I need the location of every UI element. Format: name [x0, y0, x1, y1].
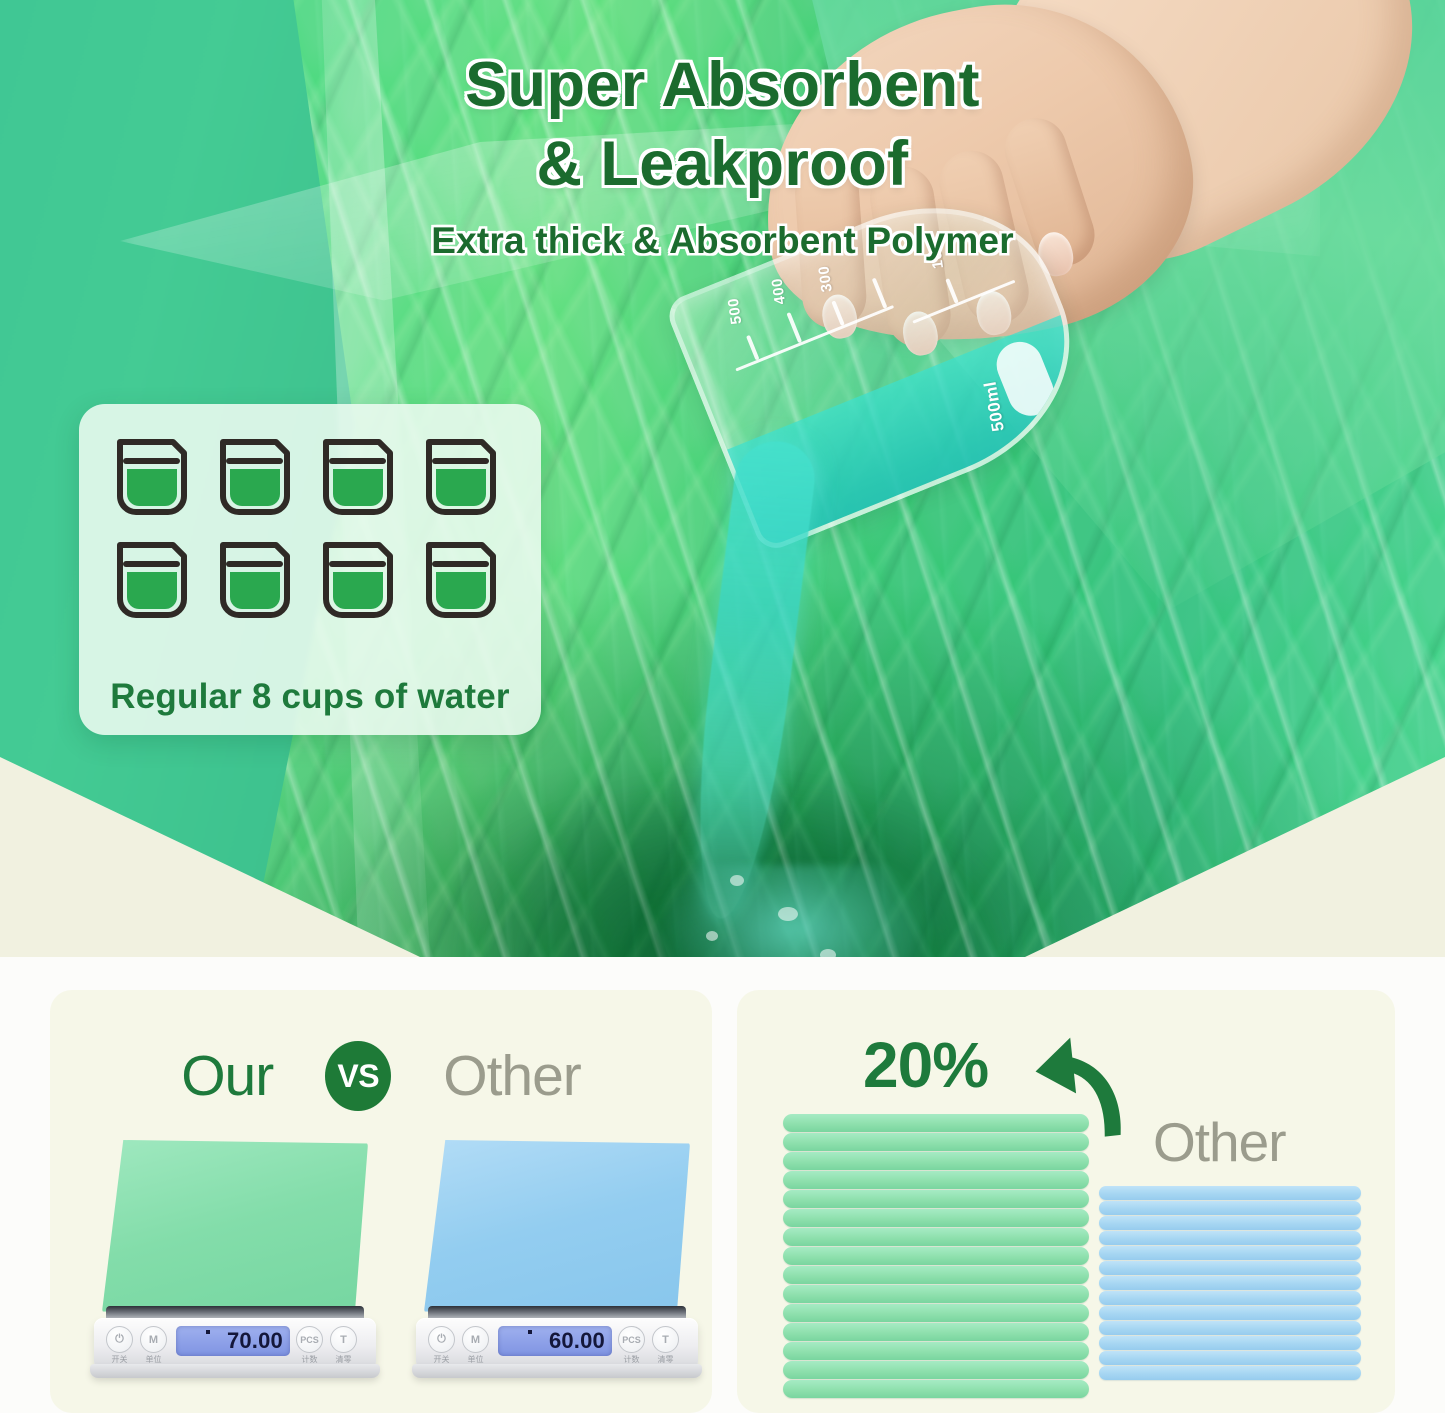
lcd-indicator-dot	[206, 1330, 210, 1334]
pad-layer	[783, 1361, 1089, 1379]
other-thickness-label: Other	[1153, 1110, 1286, 1174]
graduation-tick	[831, 300, 844, 326]
thickness-comparison-card: 20% Other	[737, 990, 1395, 1413]
our-label: Our	[181, 1043, 273, 1109]
beaker-tick-label: 500	[725, 297, 746, 326]
water-bubbles	[610, 845, 1010, 957]
bubble	[820, 949, 836, 957]
power-button[interactable]: ⏻	[428, 1326, 455, 1353]
lcd-indicator-dot	[528, 1330, 532, 1334]
bubble	[730, 875, 744, 886]
pad-layer	[1099, 1291, 1361, 1305]
cup-icon	[319, 539, 410, 632]
pad-layer	[1099, 1321, 1361, 1335]
vs-badge: VS	[325, 1041, 391, 1111]
pad-layer	[1099, 1336, 1361, 1350]
green-pad-stack	[783, 1114, 1089, 1399]
pad-layer	[1099, 1231, 1361, 1245]
cup-icon	[113, 436, 204, 529]
scale-other: 60.00 ⏻ M PCS T 开关 单位 计数 清零	[410, 1140, 700, 1390]
graduation-tick	[872, 278, 888, 309]
cup-icon	[422, 539, 513, 632]
pad-layer	[783, 1133, 1089, 1151]
weight-comparison-card: Our VS Other 70.00 ⏻ M PCS T	[50, 990, 712, 1413]
pad-layer	[783, 1285, 1089, 1303]
blue-pad-stack	[1099, 1186, 1361, 1381]
pad-layer	[783, 1171, 1089, 1189]
pad-layer	[1099, 1186, 1361, 1200]
count-button-label: 计数	[618, 1354, 645, 1365]
other-label: Other	[443, 1043, 581, 1109]
pad-layer	[1099, 1261, 1361, 1275]
cup-icon-grid	[113, 436, 513, 632]
power-button-label: 开关	[428, 1354, 455, 1365]
water-capacity-card: Regular 8 cups of water	[79, 404, 541, 735]
scale-our: 70.00 ⏻ M PCS T 开关 单位 计数 清零	[88, 1140, 378, 1390]
count-button[interactable]: PCS	[296, 1326, 323, 1353]
pad-layer	[1099, 1246, 1361, 1260]
pad-layer	[783, 1247, 1089, 1265]
cup-icon	[216, 539, 307, 632]
graduation-tick	[786, 312, 802, 343]
bottom-section: Our VS Other 70.00 ⏻ M PCS T	[0, 957, 1445, 1413]
power-button-label: 开关	[106, 1354, 133, 1365]
pad-layer	[1099, 1216, 1361, 1230]
scale-display-other: 60.00	[498, 1326, 612, 1356]
pad-our	[102, 1140, 368, 1315]
scale-base	[412, 1364, 702, 1378]
unit-button-label: 单位	[140, 1354, 167, 1365]
unit-button-label: 单位	[462, 1354, 489, 1365]
cup-icon	[319, 436, 410, 529]
tare-button[interactable]: T	[330, 1326, 357, 1353]
pad-other	[424, 1140, 690, 1315]
scale-display-our: 70.00	[176, 1326, 290, 1356]
pad-layer	[783, 1152, 1089, 1170]
cups-card-label: Regular 8 cups of water	[79, 677, 541, 717]
cup-icon	[113, 539, 204, 632]
pad-layer	[783, 1228, 1089, 1246]
beaker-tick-label: 400	[769, 277, 790, 306]
bubble	[778, 907, 798, 921]
product-marketing-image: 500 400 300 100 500ml Super Absorbent	[0, 0, 1445, 1413]
pad-layer	[1099, 1351, 1361, 1365]
pad-layer	[1099, 1366, 1361, 1380]
count-button[interactable]: PCS	[618, 1326, 645, 1353]
tare-button-label: 清零	[330, 1354, 357, 1365]
graduation-line	[735, 305, 894, 371]
scales-row: 70.00 ⏻ M PCS T 开关 单位 计数 清零	[50, 1140, 712, 1390]
scale-reading-our: 70.00	[227, 1328, 283, 1354]
beaker-tick-label: 100	[927, 241, 948, 270]
tare-button-label: 清零	[652, 1354, 679, 1365]
count-button-label: 计数	[296, 1354, 323, 1365]
scale-reading-other: 60.00	[549, 1328, 605, 1354]
unit-button[interactable]: M	[462, 1326, 489, 1353]
comparison-header: Our VS Other	[50, 1038, 712, 1114]
pad-layer	[1099, 1276, 1361, 1290]
power-button[interactable]: ⏻	[106, 1326, 133, 1353]
pad-layer	[783, 1114, 1089, 1132]
pad-layer	[1099, 1306, 1361, 1320]
beaker-tick-label: 300	[815, 265, 836, 294]
pad-layer	[783, 1266, 1089, 1284]
graduation-line	[912, 280, 1015, 324]
pad-layer	[783, 1209, 1089, 1227]
graduation-tick	[945, 278, 958, 304]
unit-button[interactable]: M	[140, 1326, 167, 1353]
pad-layer	[783, 1323, 1089, 1341]
scale-base	[90, 1364, 380, 1378]
graduation-tick	[746, 335, 759, 361]
pad-layer	[783, 1380, 1089, 1398]
pouring-beaker-group: 500 400 300 100 500ml	[700, 225, 1120, 785]
bubble	[706, 931, 718, 941]
pad-layer	[1099, 1201, 1361, 1215]
cup-icon	[422, 436, 513, 529]
pad-layer	[783, 1342, 1089, 1360]
cup-icon	[216, 436, 307, 529]
tare-button[interactable]: T	[652, 1326, 679, 1353]
pad-layer	[783, 1304, 1089, 1322]
pad-layer	[783, 1190, 1089, 1208]
hero-section: 500 400 300 100 500ml Super Absorbent	[0, 0, 1445, 957]
percent-label: 20%	[863, 1028, 988, 1102]
